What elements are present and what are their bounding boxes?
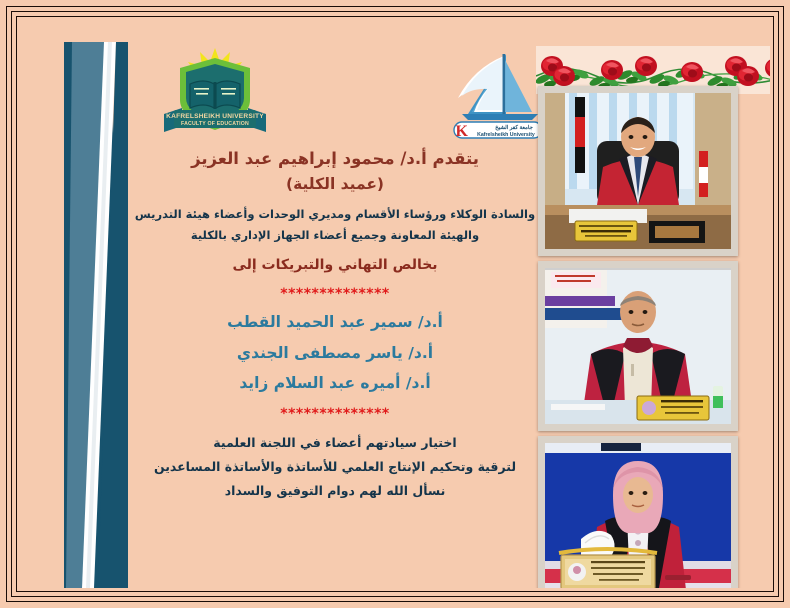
portrait-yasser-mostafa-elgendy bbox=[538, 86, 738, 256]
announcement-slide: KAFRELSHEIKH UNIVERSITY FACULTY OF EDUCA… bbox=[20, 20, 770, 588]
honoree-name-2: أ.د/ ياسر مصطفى الجندي bbox=[120, 343, 550, 364]
honoree-name-1: أ.د/ سمير عبد الحميد القطب bbox=[120, 312, 550, 333]
svg-text:KAFRELSHEIKH UNIVERSITY: KAFRELSHEIKH UNIVERSITY bbox=[166, 113, 264, 120]
svg-text:Kafrelsheikh University: Kafrelsheikh University bbox=[477, 132, 535, 138]
svg-text:FACULTY OF EDUCATION: FACULTY OF EDUCATION bbox=[181, 121, 249, 127]
portrait-image-2 bbox=[545, 268, 731, 424]
audience-line-2: والهيئة المعاونة وجميع أعضاء الجهاز الإد… bbox=[120, 227, 550, 245]
audience-line-1: والسادة الوكلاء ورؤساء الأقسام ومديري ال… bbox=[120, 206, 550, 224]
portrait-image-1 bbox=[545, 93, 731, 249]
honoree-name-3: أ.د/ أميره عبد السلام زايد bbox=[120, 373, 550, 394]
svg-text:جامعة كفر الشيخ: جامعة كفر الشيخ bbox=[495, 125, 533, 131]
portrait-amira-abdelsalam-zayed bbox=[538, 436, 738, 588]
kafrelsheikh-university-logo: K جامعة كفر الشيخ Kafrelsheikh Universit… bbox=[444, 48, 548, 140]
portrait-image-3 bbox=[545, 443, 731, 588]
svg-text:K: K bbox=[456, 123, 469, 140]
reason-line-2: لترقية وتحكيم الإنتاج العلمي للأساتذة وا… bbox=[120, 456, 550, 477]
portrait-samir-abdelhamid-elqotb bbox=[538, 261, 738, 431]
greeting-line: بخالص التهاني والتبريكات إلى bbox=[120, 256, 550, 275]
stars-divider-top: ************** bbox=[120, 285, 550, 304]
stars-divider-bottom: ************** bbox=[120, 405, 550, 424]
faculty-of-education-logo: KAFRELSHEIKH UNIVERSITY FACULTY OF EDUCA… bbox=[160, 42, 270, 140]
left-ribbon-decoration bbox=[64, 42, 128, 588]
reason-line-1: اختيار سيادتهم أعضاء في اللجنة العلمية bbox=[120, 432, 550, 453]
portrait-gallery bbox=[538, 86, 738, 588]
presenter-title: (عميد الكلية) bbox=[120, 174, 550, 195]
presenter-line: يتقدم أ.د/ محمود إبراهيم عبد العزيز bbox=[120, 148, 550, 171]
closing-line: نسأل الله لهم دوام التوفيق والسداد bbox=[120, 480, 550, 501]
announcement-text: يتقدم أ.د/ محمود إبراهيم عبد العزيز (عمي… bbox=[120, 148, 550, 505]
